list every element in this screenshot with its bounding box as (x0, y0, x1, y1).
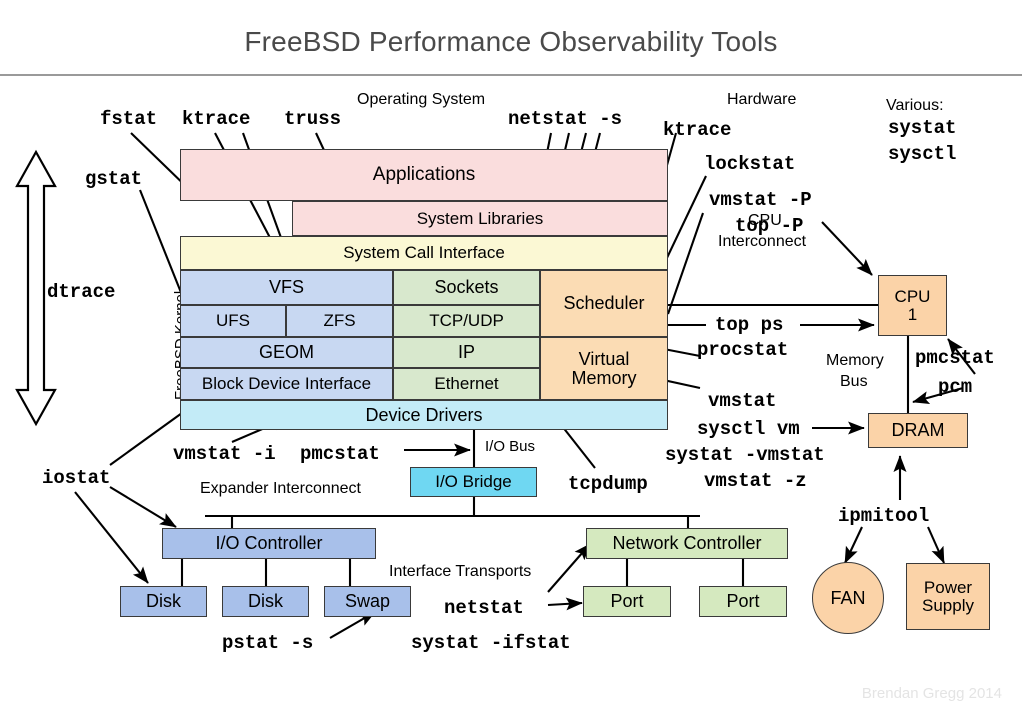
box-dram: DRAM (868, 413, 968, 448)
tool-pmcstat-bus: pmcstat (300, 443, 380, 465)
box-cpu: CPU 1 (878, 275, 947, 336)
label-memory-bus-2: Bus (840, 373, 868, 391)
tool-netstat-s: netstat -s (508, 108, 622, 130)
box-geom: GEOM (180, 337, 393, 368)
tool-ipmitool: ipmitool (838, 505, 929, 527)
tool-systat-vmstat: systat -vmstat (665, 444, 825, 466)
label-memory-bus-1: Memory (826, 352, 884, 370)
box-io-bridge: I/O Bridge (410, 467, 537, 497)
box-swap: Swap (324, 586, 411, 617)
tool-systat-various: systat (888, 117, 956, 139)
label-operating-system: Operating System (357, 91, 485, 109)
tool-pstat-s: pstat -s (222, 632, 313, 654)
box-system-call-interface: System Call Interface (180, 236, 668, 270)
box-system-libraries: System Libraries (292, 201, 668, 236)
tool-vmstat-P: vmstat -P (709, 189, 812, 211)
tool-netstat: netstat (444, 597, 524, 619)
tool-iostat: iostat (42, 467, 110, 489)
tool-sysctl-various: sysctl (888, 143, 956, 165)
box-zfs: ZFS (286, 305, 393, 337)
box-ethernet: Ethernet (393, 368, 540, 400)
tool-lockstat: lockstat (704, 153, 795, 175)
tool-truss: truss (284, 108, 341, 130)
tool-ktrace-right: ktrace (663, 119, 731, 141)
box-port-1: Port (583, 586, 671, 617)
tool-systat-ifstat: systat -ifstat (411, 632, 571, 654)
tool-vmstat: vmstat (708, 390, 776, 412)
label-expander-interconnect: Expander Interconnect (200, 480, 361, 498)
watermark: Brendan Gregg 2014 (862, 685, 1002, 702)
box-scheduler: Scheduler (540, 270, 668, 337)
box-ip: IP (393, 337, 540, 368)
box-tcp-udp: TCP/UDP (393, 305, 540, 337)
box-io-controller: I/O Controller (162, 528, 376, 559)
tool-top-ps: top ps (715, 314, 783, 336)
box-network-controller: Network Controller (586, 528, 788, 559)
label-interface-transports: Interface Transports (389, 563, 531, 581)
box-fan: FAN (812, 562, 884, 634)
box-block-device-interface: Block Device Interface (180, 368, 393, 400)
tool-sysctl-vm: sysctl vm (697, 418, 800, 440)
box-port-2: Port (699, 586, 787, 617)
label-various: Various: (886, 97, 944, 115)
tool-tcpdump: tcpdump (568, 473, 648, 495)
tool-dtrace: dtrace (47, 281, 115, 303)
tool-procstat: procstat (697, 339, 788, 361)
diagram-canvas: FreeBSD Performance Observability Tools (0, 0, 1022, 716)
power-supply-line2: Supply (922, 597, 974, 615)
box-power-supply: Power Supply (906, 563, 990, 630)
virtual-memory-line1: Virtual (579, 350, 630, 369)
tool-vmstat-z: vmstat -z (704, 470, 807, 492)
label-hardware: Hardware (727, 91, 796, 109)
box-device-drivers: Device Drivers (180, 400, 668, 430)
box-ufs: UFS (180, 305, 286, 337)
power-supply-line1: Power (924, 579, 972, 597)
box-disk-2: Disk (222, 586, 309, 617)
tool-vmstat-i: vmstat -i (173, 443, 276, 465)
tool-gstat: gstat (85, 168, 142, 190)
box-sockets: Sockets (393, 270, 540, 305)
cpu-line1: CPU (895, 288, 931, 306)
tool-fstat: fstat (100, 108, 157, 130)
cpu-line2: 1 (908, 306, 917, 324)
tool-pmcstat-cpu: pmcstat (915, 347, 995, 369)
box-vfs: VFS (180, 270, 393, 305)
box-virtual-memory: Virtual Memory (540, 337, 668, 400)
label-io-bus: I/O Bus (485, 438, 535, 455)
tool-top-P: top -P (735, 215, 803, 237)
box-disk-1: Disk (120, 586, 207, 617)
box-applications: Applications (180, 149, 668, 201)
virtual-memory-line2: Memory (571, 369, 636, 388)
tool-pcm: pcm (938, 376, 972, 398)
tool-ktrace-top: ktrace (182, 108, 250, 130)
